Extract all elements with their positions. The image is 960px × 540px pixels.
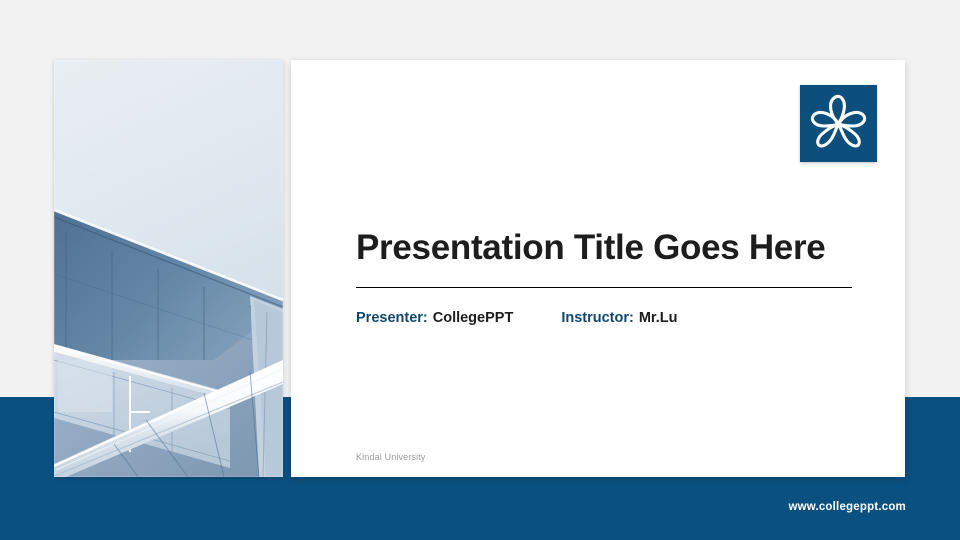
footer-url[interactable]: www.collegeppt.com — [788, 501, 906, 513]
content-card: Presentation Title Goes Here Presenter: … — [291, 60, 905, 477]
kindai-university-logo-icon — [800, 85, 877, 162]
presenter-group: Presenter: CollegePPT — [356, 310, 513, 326]
instructor-label: Instructor: — [561, 310, 634, 326]
presenter-label: Presenter: — [356, 310, 428, 326]
instructor-group: Instructor: Mr.Lu — [561, 310, 677, 326]
presentation-meta: Presenter: CollegePPT Instructor: Mr.Lu — [356, 310, 677, 326]
organization-name: Kindai University — [356, 452, 426, 462]
presentation-slide: www.collegeppt.com — [0, 0, 960, 540]
instructor-value: Mr.Lu — [639, 310, 678, 326]
presenter-value: CollegePPT — [433, 310, 514, 326]
architecture-photo-artwork — [54, 60, 283, 477]
architecture-photo — [54, 60, 283, 477]
page-title: Presentation Title Goes Here — [356, 228, 876, 268]
logo-mark-artwork — [800, 85, 877, 162]
title-divider — [356, 287, 852, 288]
